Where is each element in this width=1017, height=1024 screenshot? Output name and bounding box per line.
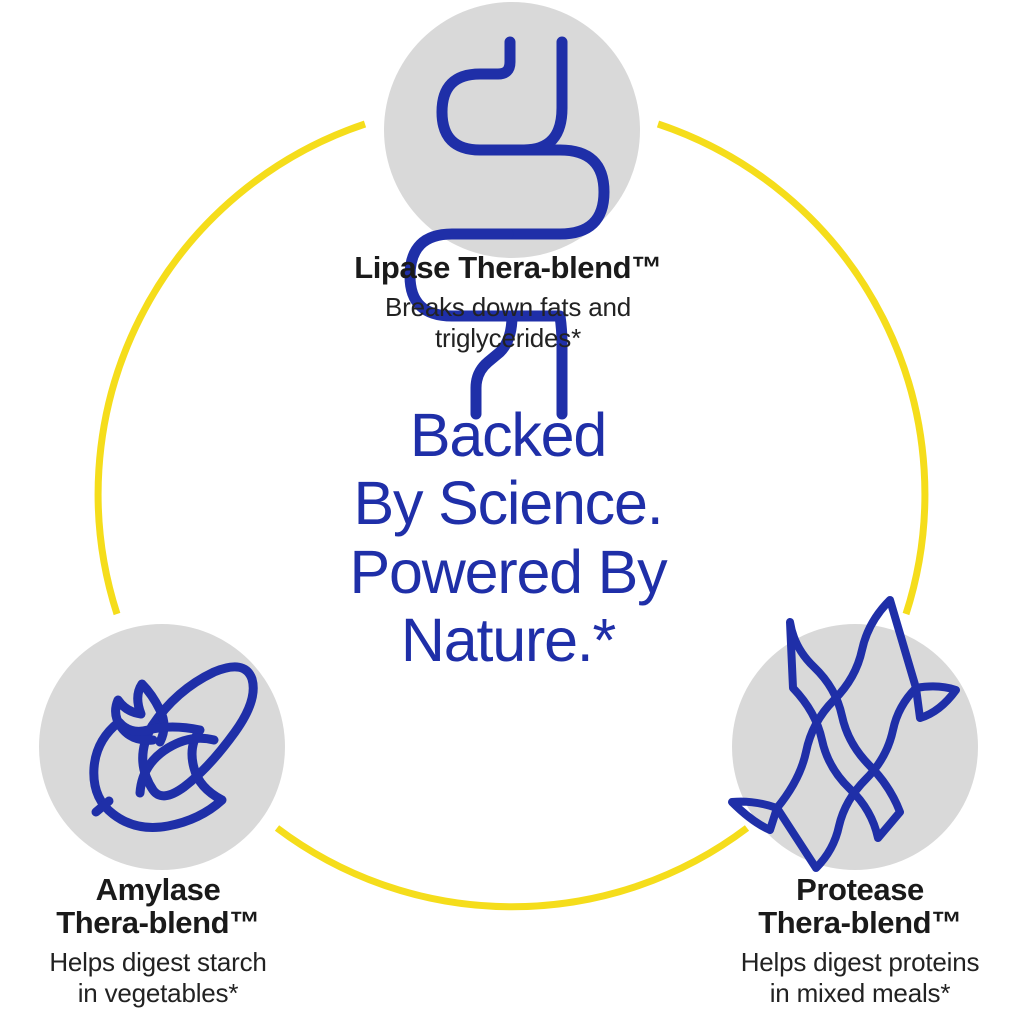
- node-label-lipase: Lipase Thera-blend™ Breaks down fats and…: [208, 252, 808, 354]
- node-title-amylase: Amylase Thera-blend™: [0, 874, 328, 940]
- center-headline: Backed By Science. Powered By Nature.*: [208, 401, 808, 674]
- node-title-protease: Protease Thera-blend™: [690, 874, 1017, 940]
- arc-bottom: [277, 828, 747, 907]
- node-title-lipase: Lipase Thera-blend™: [208, 252, 808, 285]
- node-description-lipase: Breaks down fats and triglycerides*: [208, 292, 808, 354]
- node-description-protease: Helps digest proteins in mixed meals*: [690, 947, 1017, 1009]
- node-label-amylase: Amylase Thera-blend™ Helps digest starch…: [0, 874, 328, 1009]
- node-description-amylase: Helps digest starch in vegetables*: [0, 947, 328, 1009]
- node-label-protease: Protease Thera-blend™ Helps digest prote…: [690, 874, 1017, 1009]
- thera-blend-infographic: Backed By Science. Powered By Nature.* L…: [0, 0, 1017, 1024]
